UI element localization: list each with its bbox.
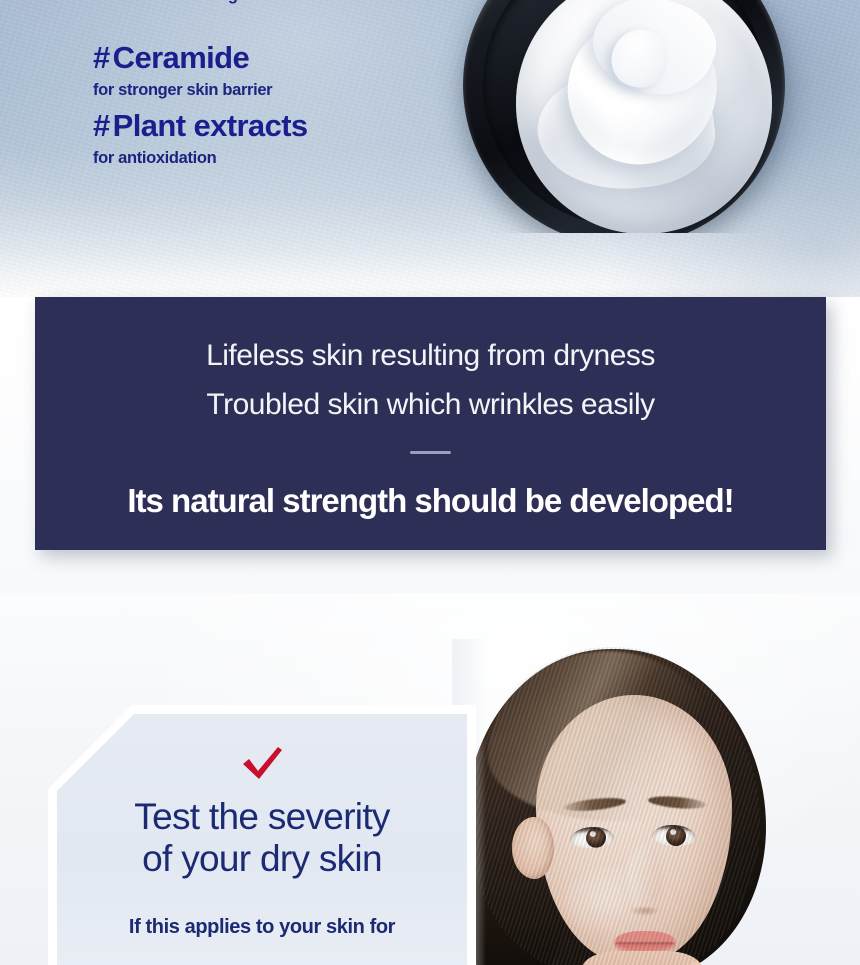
dry-skin-test-title-line-1: Test the severity [57,796,467,838]
navy-message-box: Lifeless skin resulting from dryness Tro… [35,297,826,550]
banner-divider [410,451,451,454]
ingredients-section: for moisture storage #Ceramide for stron… [0,0,860,297]
banner-line-1: Lifeless skin resulting from dryness [35,341,826,371]
ingredient-title-text: Plant extracts [113,108,308,143]
cream-surface [516,0,772,233]
cream-shading [516,0,772,233]
jar-inner-rim [483,0,765,226]
message-banner-section: Lifeless skin resulting from dryness Tro… [0,297,860,593]
cream-jar-photo [415,0,860,233]
dry-skin-test-title-line-2: of your dry skin [57,838,467,880]
dry-skin-test-subtitle: If this applies to your skin for [57,914,467,940]
model-portrait-photo [452,639,792,965]
hash-icon: # [93,108,110,143]
dry-skin-test-title: Test the severity of your dry skin [57,796,467,880]
product-detail-page: for moisture storage #Ceramide for stron… [0,0,860,965]
hash-icon: # [93,40,110,75]
jar-body [463,0,785,233]
ingredient-title-text: Ceramide [113,40,250,75]
self-test-section: Test the severity of your dry skin If th… [0,593,860,965]
dry-skin-test-card-inner: Test the severity of your dry skin If th… [57,714,467,965]
banner-headline: Its natural strength should be developed… [35,482,826,520]
red-check-icon [57,744,467,787]
dry-skin-test-card: Test the severity of your dry skin If th… [48,705,476,965]
banner-line-2: Troubled skin which wrinkles easily [35,390,826,420]
